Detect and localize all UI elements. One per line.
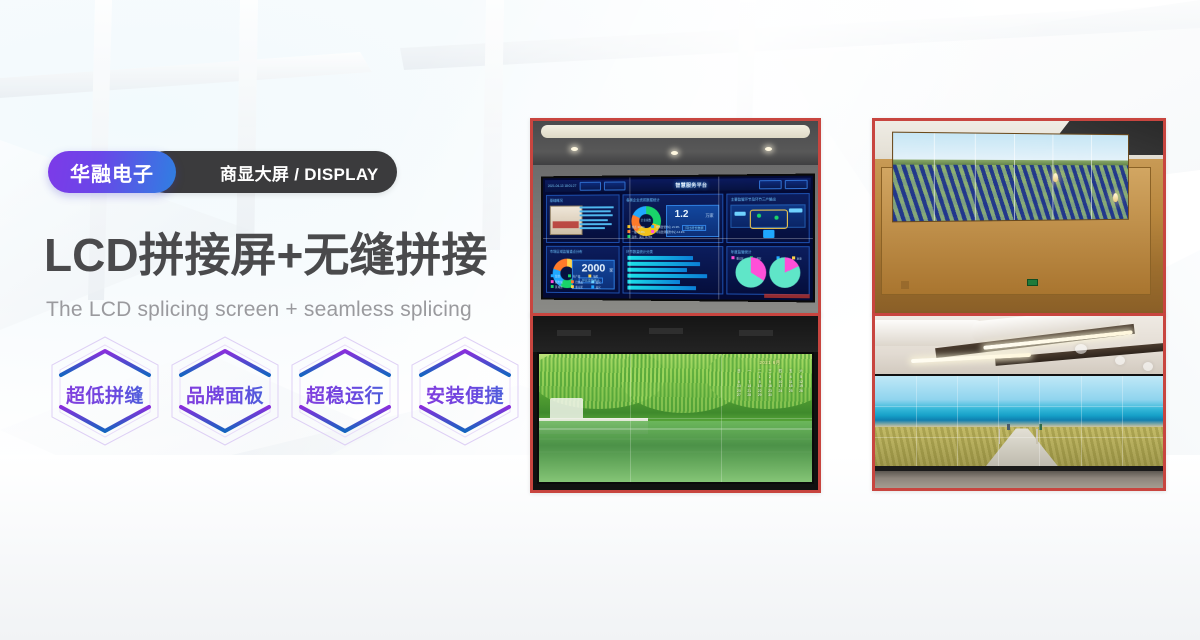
calendar-day: 1 [755, 375, 765, 379]
dashboard-kpi-unit: 万家 [706, 213, 714, 219]
brand-pill: 商显大屏 / DISPLAY 华融电子 [48, 151, 176, 193]
calendar-day: 10 [775, 380, 785, 384]
dashboard-card-title: 市场区域监管重点分布 [550, 248, 583, 253]
calendar-day: 22 [755, 389, 765, 393]
feature-badge-4[interactable]: 安装便捷 [406, 333, 524, 449]
dashboard-card-grid: 基础概况 各类企业资质数 [546, 193, 810, 295]
video-wall-screen: 2021-04-13 18:01:27 智慧服务平台 基础概况 [541, 174, 815, 303]
brand-category-label: 商显大屏 / DISPLAY [220, 160, 379, 185]
brand-category-pill: 商显大屏 / DISPLAY [144, 151, 397, 193]
calendar-day: 24 [775, 389, 785, 393]
dashboard-card-title: 基础概况 [550, 198, 563, 203]
dashboard-card: 市场区域监管重点分布 2000 家 环比监管统计 监管 年产量 抽检 服务站 已… [546, 245, 619, 293]
calendar-weekday: 四 [775, 368, 785, 373]
dashboard-kpi-value: 2000 [582, 262, 606, 274]
calendar-weekday: 五 [786, 368, 796, 373]
calendar-day [744, 375, 754, 379]
hero-subline: The LCD splicing screen + seamless splic… [46, 298, 472, 322]
feature-badge-label: 超低拼缝 [46, 381, 164, 408]
calendar-day: 18 [786, 384, 796, 388]
feature-badge-list: 超低拼缝 品牌面板 超稳运行 [46, 333, 524, 449]
brand-name-pill: 华融电子 [48, 151, 176, 193]
calendar-day: 3 [775, 375, 785, 379]
calendar-weekday: 日 [734, 368, 744, 373]
dashboard-title: 智慧服务平台 [628, 181, 756, 189]
video-wall-screen: 2021 6月 日 一 二 三 四 五 六 1 2 [537, 352, 814, 484]
video-wall-screen [892, 132, 1129, 223]
calendar-day: 12 [796, 380, 806, 384]
product-photo-solar-farm-video-wall[interactable] [872, 118, 1166, 316]
product-photo-beach-boardwalk-video-wall[interactable] [872, 313, 1166, 491]
calendar-day: 16 [765, 384, 775, 388]
product-photo-willow-lake-video-wall[interactable]: 2021 6月 日 一 二 三 四 五 六 1 2 [530, 313, 821, 493]
calendar-weekday-row: 日 一 二 三 四 五 六 [734, 368, 806, 373]
feature-badge-1[interactable]: 超低拼缝 [46, 333, 164, 449]
dashboard-kpi-value: 1.2 [675, 209, 689, 220]
dashboard-top-bar: 2021-04-13 18:01:27 智慧服务平台 [545, 178, 811, 192]
product-photo-dashboard-video-wall[interactable]: 2021-04-13 18:01:27 智慧服务平台 基础概况 [530, 118, 821, 316]
calendar-weekday: 一 [744, 368, 754, 373]
feature-badge-label: 安装便捷 [406, 381, 524, 408]
dashboard-card: 基础概况 [546, 194, 619, 242]
calendar-day: 21 [744, 389, 754, 393]
calendar-day: 25 [786, 389, 796, 393]
feature-badge-label: 品牌面板 [166, 381, 284, 408]
dashboard-card: 各类企业资质数据统计 企业总数 1.2 万家 同比增长数据 重点 30.1% 市… [622, 194, 723, 243]
calendar-day: 5 [796, 375, 806, 379]
donut-center-label: 企业总数 [639, 218, 653, 222]
calendar-weekday: 六 [796, 368, 806, 373]
calendar-weekday: 二 [755, 368, 765, 373]
calendar-day: 17 [775, 384, 785, 388]
banner-stage: 商显大屏 / DISPLAY 华融电子 LCD拼接屏+无缝拼接 The LCD … [0, 0, 1200, 640]
dashboard-card-title: 主要监管环节及环节三产输出 [731, 196, 776, 201]
calendar-day: 6 [734, 380, 744, 384]
dashboard-card: 年度监管统计 重点区 一般区 抽检 复查 [727, 246, 810, 296]
calendar-day: 28 [744, 393, 754, 397]
dashboard-timestamp: 2021-04-13 18:01:27 [548, 184, 576, 188]
dashboard-card: 主要监管环节及环节三产输出 [727, 193, 810, 243]
dashboard-card-title: 年度监管统计 [731, 249, 752, 254]
feature-badge-label: 超稳运行 [286, 381, 404, 408]
calendar-day: 15 [755, 384, 765, 388]
calendar-day: 30 [765, 393, 775, 397]
calendar-day: 19 [796, 384, 806, 388]
calendar-day: 20 [734, 389, 744, 393]
calendar-day: 8 [755, 380, 765, 384]
calendar-day [734, 375, 744, 379]
calendar-day: 14 [744, 384, 754, 388]
brand-name-label: 华融电子 [70, 158, 154, 187]
calendar-day: 27 [734, 393, 744, 397]
calendar-title: 2021 6月 [734, 360, 806, 366]
dashboard-kpi-unit: 家 [609, 267, 613, 273]
calendar-day: 7 [744, 380, 754, 384]
dashboard-card-title: 各类企业资质数据统计 [626, 197, 660, 202]
feature-badge-2[interactable]: 品牌面板 [166, 333, 284, 449]
calendar-day: 29 [755, 393, 765, 397]
calendar-day: 26 [796, 389, 806, 393]
calendar-overlay: 2021 6月 日 一 二 三 四 五 六 1 2 [734, 360, 806, 422]
dashboard-card: 环节数量统计分类 [622, 245, 723, 294]
video-wall-screen [875, 374, 1163, 471]
calendar-weekday: 三 [765, 368, 775, 373]
calendar-day: 4 [786, 375, 796, 379]
hero-headline: LCD拼接屏+无缝拼接 [44, 232, 487, 278]
calendar-day: 9 [765, 380, 775, 384]
calendar-day: 13 [734, 384, 744, 388]
calendar-day: 11 [786, 380, 796, 384]
calendar-day-grid: 1 2 3 4 5 6 7 8 9 10 11 12 13 14 [734, 375, 806, 397]
feature-badge-3[interactable]: 超稳运行 [286, 333, 404, 449]
calendar-day: 2 [765, 375, 775, 379]
calendar-day: 23 [765, 389, 775, 393]
